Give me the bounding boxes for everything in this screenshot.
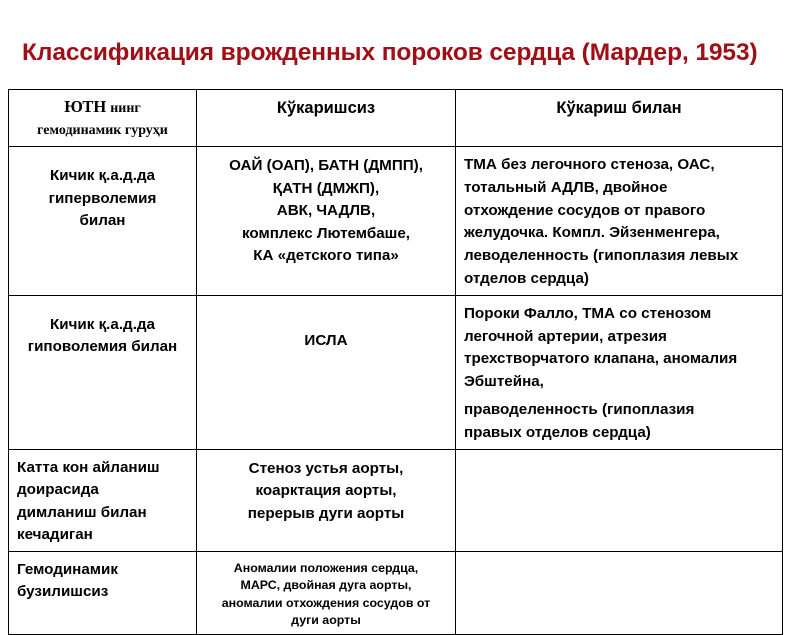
cell-line: коарктация аорты,: [203, 480, 449, 503]
column-header-cyanotic: Кўкариш билан: [456, 90, 783, 147]
header-group-line2: гемодинамик гуруҳи: [15, 120, 190, 142]
table-row: Катта кон айланиш доирасида димланиш бил…: [9, 449, 783, 551]
cell-line: желудочка. Компл. Эйзенменгера,: [464, 222, 776, 245]
row-3-group: Катта кон айланиш доирасида димланиш бил…: [9, 449, 197, 551]
cell-line: ТМА без легочного стеноза, ОАС,: [464, 154, 776, 177]
table-row: Кичик қ.а.д.да гиперволемия билан ОАЙ (О…: [9, 147, 783, 296]
row-3-acyanotic: Стеноз устья аорты, коарктация аорты, пе…: [197, 449, 456, 551]
row-2-cyanotic: Пороки Фалло, ТМА со стенозом легочной а…: [456, 295, 783, 449]
cell-line: Кичик қ.а.д.да: [15, 314, 190, 337]
row-4-group: Гемодинамик бузилишсиз: [9, 551, 197, 634]
cell-line: доирасида: [17, 479, 190, 502]
cell-line: трехстворчатого клапана, аномалия: [464, 348, 776, 371]
cell-line: АВК, ЧАДЛВ,: [203, 200, 449, 223]
cell-line: Пороки Фалло, ТМА со стенозом: [464, 303, 776, 326]
cell-line: димланиш билан: [17, 502, 190, 525]
classification-table: ЮТН нинг гемодинамик гуруҳи Кўкаришсиз К…: [8, 89, 783, 635]
row-4-acyanotic: Аномалии положения сердца, МАРС, двойная…: [197, 551, 456, 634]
column-header-group: ЮТН нинг гемодинамик гуруҳи: [9, 90, 197, 147]
cell-line: МАРС, двойная дуга аорты,: [203, 577, 449, 595]
cell-line: гиперволемия: [15, 188, 190, 211]
row-1-acyanotic: ОАЙ (ОАП), БАТН (ДМПП), ҚАТН (ДМЖП), АВК…: [197, 147, 456, 296]
cell-line: ИСЛА: [203, 330, 449, 353]
cell-line: дуги аорты: [203, 612, 449, 630]
slide-canvas: Классификация врожденных пороков сердца …: [0, 0, 800, 600]
cell-line: тотальный АДЛВ, двойное: [464, 177, 776, 200]
row-4-cyanotic-empty: [456, 551, 783, 634]
table-row: Гемодинамик бузилишсиз Аномалии положени…: [9, 551, 783, 634]
cell-line: отхождение сосудов от правого: [464, 200, 776, 223]
header-cyanotic-label: Кўкариш билан: [556, 99, 681, 117]
column-header-acyanotic: Кўкаришсиз: [197, 90, 456, 147]
cell-line: ОАЙ (ОАП), БАТН (ДМПП),: [203, 155, 449, 178]
row-2-acyanotic: ИСЛА: [197, 295, 456, 449]
cell-line: правых отделов сердца): [464, 422, 776, 445]
row-2-group: Кичик қ.а.д.да гиповолемия билан: [9, 295, 197, 449]
row-1-cyanotic: ТМА без легочного стеноза, ОАС, тотальны…: [456, 147, 783, 296]
header-acyanotic-label: Кўкаришсиз: [277, 99, 375, 117]
cell-line: КА «детского типа»: [203, 245, 449, 268]
cell-line: праводеленность (гипоплазия: [464, 399, 776, 422]
header-group-primary: ЮТН: [64, 97, 106, 116]
cell-line: Стеноз устья аорты,: [203, 458, 449, 481]
table-header-row: ЮТН нинг гемодинамик гуруҳи Кўкаришсиз К…: [9, 90, 783, 147]
cell-line: Кичик қ.а.д.да: [15, 165, 190, 188]
page-title: Классификация врожденных пороков сердца …: [22, 38, 782, 68]
cell-line: кечадиган: [17, 524, 190, 547]
cell-line: гиповолемия билан: [15, 336, 190, 359]
header-group-secondary: нинг: [110, 101, 141, 116]
cell-line: леводеленность (гипоплазия левых: [464, 245, 776, 268]
cell-line: Катта кон айланиш: [17, 457, 190, 480]
cell-line: ҚАТН (ДМЖП),: [203, 178, 449, 201]
cell-line: билан: [15, 210, 190, 233]
cell-line: перерыв дуги аорты: [203, 503, 449, 526]
table-row: Кичик қ.а.д.да гиповолемия билан ИСЛА По…: [9, 295, 783, 449]
cell-line: бузилишсиз: [17, 581, 190, 604]
cell-line: Эбштейна,: [464, 371, 776, 394]
row-1-group: Кичик қ.а.д.да гиперволемия билан: [9, 147, 197, 296]
cell-line: отделов сердца): [464, 268, 776, 291]
cell-line: Аномалии положения сердца,: [203, 560, 449, 578]
cell-line: легочной артерии, атрезия: [464, 326, 776, 349]
cell-line: Гемодинамик: [17, 559, 190, 582]
cell-line: аномалии отхождения сосудов от: [203, 595, 449, 613]
cell-line: комплекс Лютембаше,: [203, 223, 449, 246]
row-3-cyanotic-empty: [456, 449, 783, 551]
